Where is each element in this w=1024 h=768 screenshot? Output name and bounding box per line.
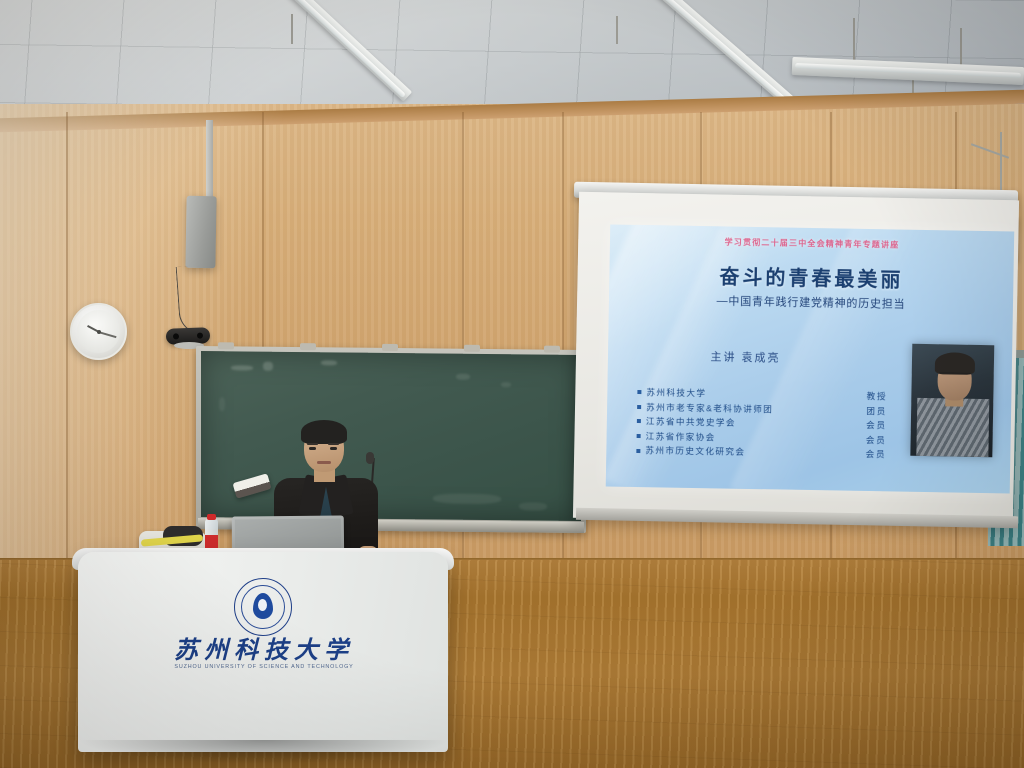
bullet-square-icon bbox=[637, 434, 641, 438]
board-clip bbox=[300, 343, 316, 350]
wall-panel-seam bbox=[262, 112, 264, 352]
credential-role: 会员 bbox=[858, 418, 887, 433]
credential-org: 江苏省作家协会 bbox=[645, 429, 715, 445]
bottle-cap bbox=[207, 514, 216, 520]
credential-role: 会员 bbox=[857, 447, 886, 462]
clock-minute-hand bbox=[98, 331, 116, 337]
wall-speaker bbox=[185, 196, 216, 269]
credential-org: 江苏省中共党史学会 bbox=[646, 414, 736, 430]
clock-face bbox=[77, 310, 120, 353]
board-clip bbox=[218, 342, 234, 349]
university-name-cn: 苏州科技大学 bbox=[174, 630, 354, 665]
credential-role: 教授 bbox=[858, 389, 887, 404]
projected-slide: 学习贯彻二十届三中全会精神青年专题讲座 奋斗的青春最美丽 —中国青年践行建党精神… bbox=[606, 224, 1015, 493]
wall-panel-seam bbox=[66, 112, 68, 574]
speaker-portrait-photo bbox=[910, 344, 994, 457]
presenter-eye bbox=[330, 447, 337, 450]
speaker-mount-rail bbox=[206, 120, 213, 206]
light-support-rod bbox=[616, 16, 618, 44]
lecture-hall-photo: 学习贯彻二十届三中全会精神青年专题讲座 奋斗的青春最美丽 —中国青年践行建党精神… bbox=[0, 0, 1024, 768]
university-name-en: SUZHOU UNIVERSITY OF SCIENCE AND TECHNOL… bbox=[174, 664, 354, 670]
credential-role: 会员 bbox=[858, 433, 887, 448]
presenter-eye bbox=[309, 447, 316, 450]
light-support-rod bbox=[291, 14, 293, 44]
bullet-square-icon bbox=[637, 419, 641, 423]
board-clip bbox=[544, 346, 560, 353]
clock-center-pin bbox=[97, 330, 101, 334]
wall-clock bbox=[70, 303, 127, 360]
presenter-hair bbox=[301, 420, 347, 444]
bullet-square-icon bbox=[637, 405, 641, 409]
slide-credentials-list: 苏州科技大学 教授 苏州市老专家&老科协讲师团 团员 江苏省中共党史学会 会员 … bbox=[636, 385, 887, 462]
credential-org: 苏州科技大学 bbox=[646, 385, 706, 401]
blackboard-surface bbox=[201, 351, 581, 521]
podium-shadow bbox=[78, 740, 450, 764]
credential-org: 苏州市历史文化研究会 bbox=[645, 444, 745, 460]
presenter-mouth bbox=[317, 461, 331, 464]
blackboard bbox=[196, 346, 586, 533]
bullet-square-icon bbox=[636, 449, 640, 453]
board-clip bbox=[464, 345, 480, 352]
university-emblem-icon bbox=[234, 578, 292, 636]
credential-role: 团员 bbox=[858, 403, 887, 418]
presenter-eyebrow bbox=[307, 443, 318, 445]
presenter-eyebrow bbox=[328, 443, 339, 445]
bullet-square-icon bbox=[637, 390, 641, 394]
board-clip bbox=[382, 344, 398, 351]
